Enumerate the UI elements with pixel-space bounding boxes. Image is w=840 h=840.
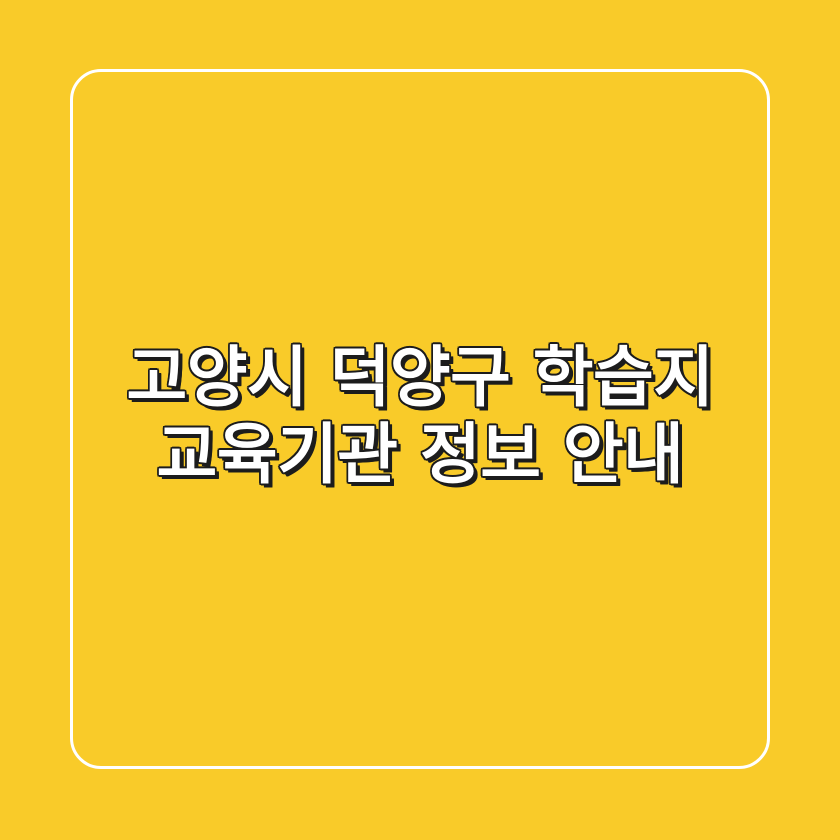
headline-line-1: 고양시 덕양구 학습지 [0, 339, 840, 416]
headline-block: 고양시 덕양구 학습지 교육기관 정보 안내 [0, 0, 840, 840]
headline-line-2: 교육기관 정보 안내 [0, 416, 840, 493]
thumbnail-card: 고양시 덕양구 학습지 교육기관 정보 안내 [0, 0, 840, 840]
